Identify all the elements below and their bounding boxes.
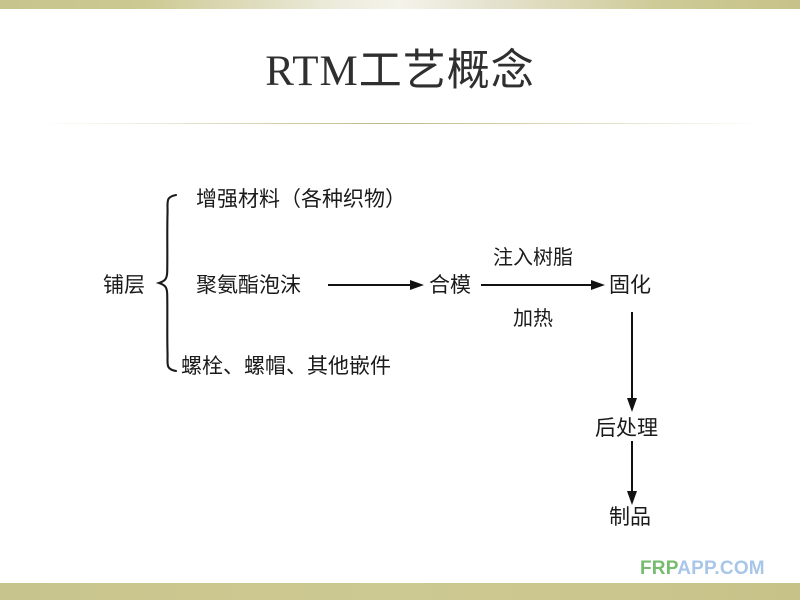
title-divider [34, 123, 766, 124]
edge-label-heating: 加热 [513, 305, 553, 333]
node-product: 制品 [609, 503, 651, 531]
bottom-accent-bar [0, 583, 800, 600]
watermark-brand: FRP [640, 558, 677, 579]
arrow-cure-to-postprocess [620, 312, 644, 412]
node-foam: 聚氨酯泡沫 [196, 271, 301, 299]
arrow-postprocess-to-product [620, 441, 644, 505]
arrow-mold-to-cure [481, 273, 605, 297]
group-brace [152, 192, 184, 374]
edge-label-inject-resin: 注入树脂 [493, 244, 573, 272]
node-reinforce: 增强材料（各种织物） [196, 185, 406, 213]
arrow-foam-to-mold [328, 273, 424, 297]
slide-canvas: RTM工艺概念 铺层 增强材料（各种织物） 聚氨酯泡沫 螺栓、螺帽、其他嵌件 合… [0, 0, 800, 600]
page-title: RTM工艺概念 [0, 44, 800, 100]
watermark-domain: APP.COM [677, 558, 765, 579]
node-inserts: 螺栓、螺帽、其他嵌件 [181, 352, 391, 380]
top-accent-bar [0, 0, 800, 9]
node-mold-close: 合模 [429, 271, 471, 299]
node-curing: 固化 [609, 271, 651, 299]
node-postprocess: 后处理 [595, 414, 658, 442]
watermark: FRPAPP.COM [640, 558, 765, 580]
node-layup: 铺层 [103, 271, 145, 299]
